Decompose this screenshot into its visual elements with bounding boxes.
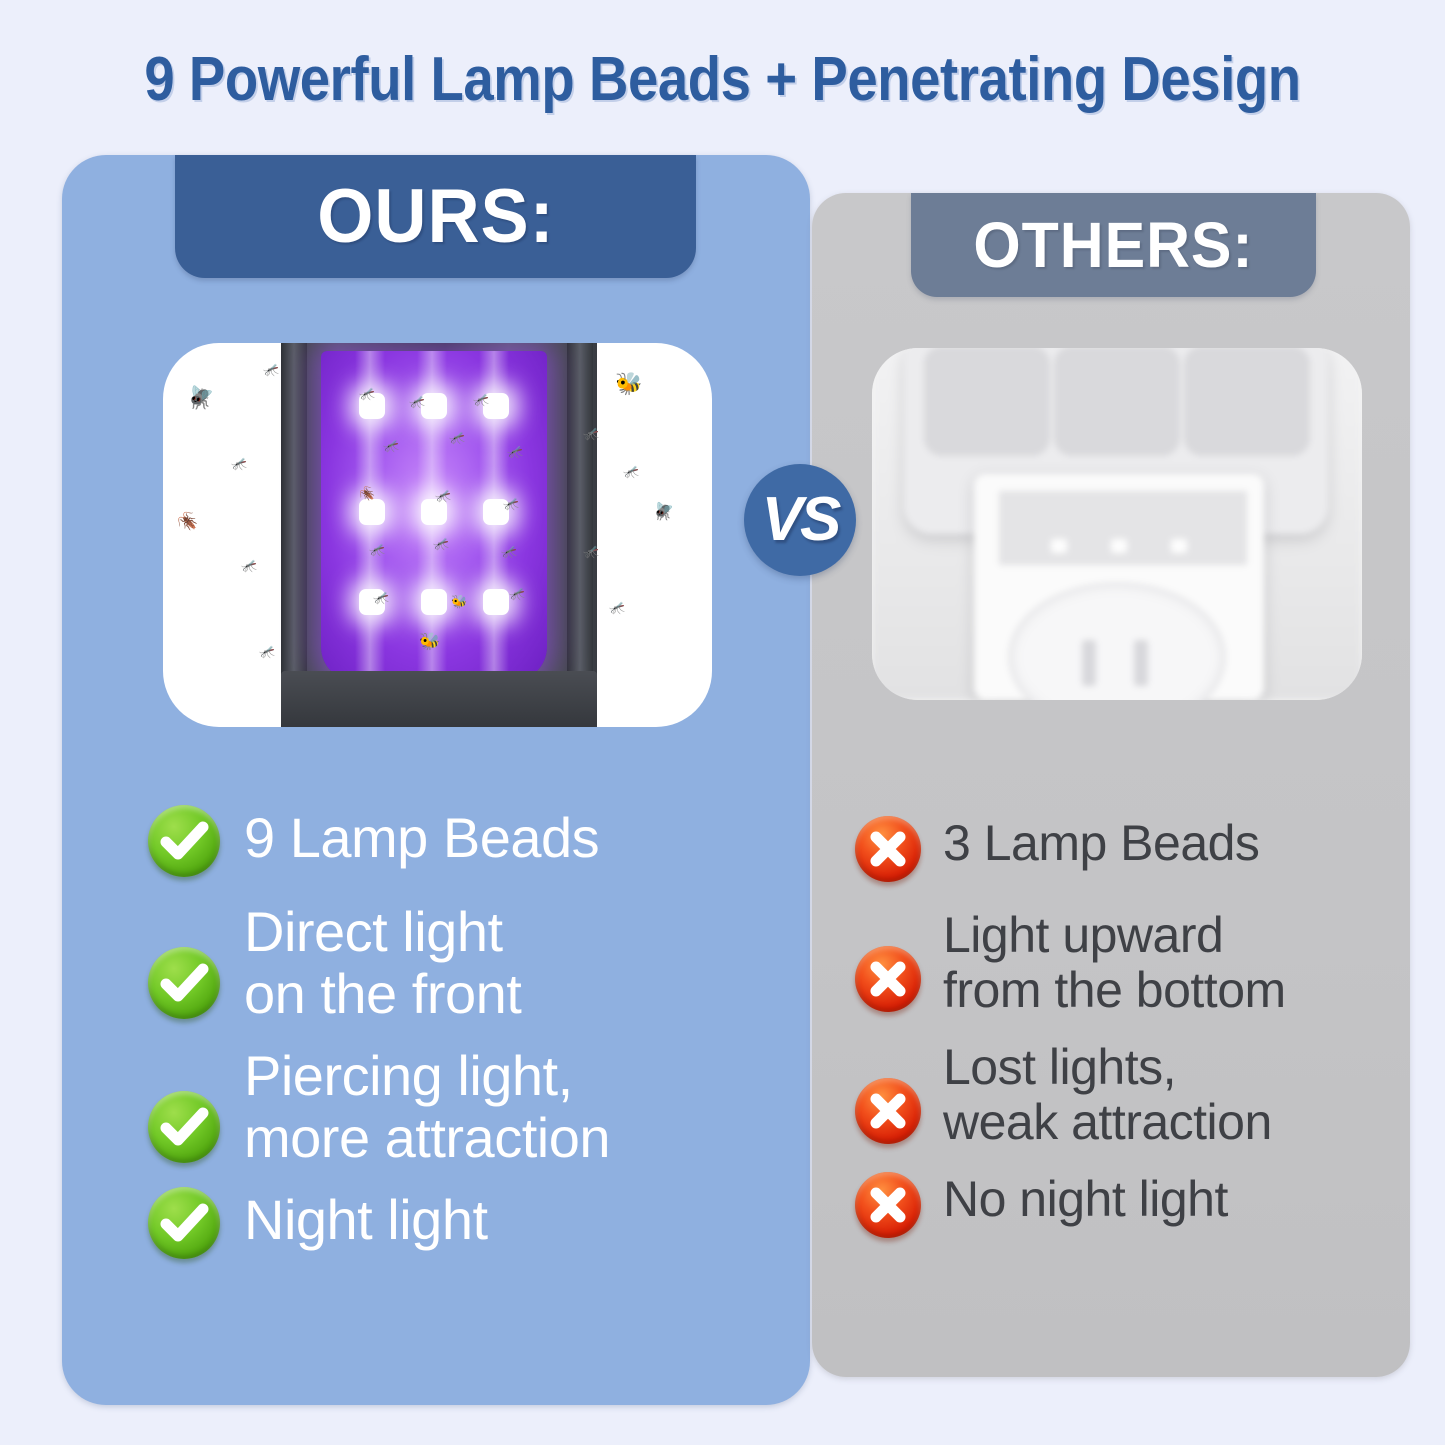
competitor-body <box>974 474 1264 700</box>
insect: 🦟 <box>609 597 625 619</box>
competitor-panel-cell <box>924 348 1050 456</box>
insect: 🦟 <box>409 391 425 413</box>
insect: 🐝 <box>615 373 642 395</box>
lamp-bead <box>483 589 509 615</box>
insect: 🦟 <box>241 555 257 577</box>
insect: 🦟 <box>263 359 279 381</box>
insect: 🦟 <box>507 441 523 463</box>
competitor-device <box>872 348 1362 700</box>
feature-row: Light upward from the bottom <box>855 904 1400 1018</box>
insect: 🦟 <box>583 541 599 563</box>
red-cross-icon <box>855 1078 921 1144</box>
insect: 🦟 <box>503 493 519 515</box>
competitor-prong <box>1134 640 1148 686</box>
competitor-lamp-bead <box>1111 539 1127 553</box>
insect: 🪰 <box>653 501 674 523</box>
insect: 🦟 <box>433 533 449 555</box>
insect: 🦟 <box>359 383 375 405</box>
insect: 🦟 <box>435 485 451 507</box>
feature-line: Piercing light, <box>244 1045 610 1107</box>
insect: 🦟 <box>583 423 599 445</box>
feature-label: Night light <box>244 1187 488 1251</box>
insect: 🦟 <box>509 583 525 605</box>
insect: 🦟 <box>373 587 389 609</box>
insect: 🐝 <box>451 591 467 613</box>
green-check-icon <box>148 947 220 1019</box>
feature-line: Direct light <box>244 901 521 963</box>
feature-line: from the bottom <box>943 963 1286 1018</box>
green-check-icon <box>148 1187 220 1259</box>
feature-row: No night light <box>855 1168 1400 1238</box>
feature-line: Night light <box>244 1189 488 1251</box>
insect: 🦟 <box>449 427 465 449</box>
vs-label: VS <box>762 489 839 551</box>
page-title: 9 Powerful Lamp Beads + Penetrating Desi… <box>87 42 1359 118</box>
insect: 🪳 <box>359 483 375 505</box>
red-cross-icon <box>855 816 921 882</box>
insect: 🪰 <box>187 387 214 409</box>
ours-product-photo: 🦟 🦟 🦟 🦟 🦟 🦟 🪳 🦟 🦟 🦟 🦟 🦟 🦟 🐝 🦟 🐝 🪰 🦟 🦟 🪳 … <box>163 343 712 727</box>
zapper-left-rail <box>281 343 307 727</box>
insect: 🦟 <box>501 541 517 563</box>
vs-badge: VS <box>744 464 856 576</box>
red-cross-icon <box>855 1172 921 1238</box>
ours-badge: OURS: <box>175 155 696 278</box>
zapper-base <box>281 671 597 727</box>
insect: 🪳 <box>177 511 198 533</box>
insect: 🐝 <box>419 631 440 653</box>
feature-row: Lost lights, weak attraction <box>855 1036 1400 1150</box>
competitor-panel-cell <box>1054 348 1180 456</box>
ours-badge-label: OURS: <box>317 177 554 257</box>
feature-label: Direct light on the front <box>244 899 521 1025</box>
others-feature-list: 3 Lamp Beads Light upward from the botto… <box>855 812 1400 1260</box>
feature-line: 3 Lamp Beads <box>943 816 1259 871</box>
feature-line: 9 Lamp Beads <box>244 807 599 869</box>
others-badge: OTHERS: <box>911 193 1316 297</box>
green-check-icon <box>148 1091 220 1163</box>
feature-label: Light upward from the bottom <box>943 904 1286 1018</box>
feature-line: Light upward <box>943 908 1286 963</box>
feature-line: No night light <box>943 1172 1228 1227</box>
competitor-light-slot <box>996 488 1250 568</box>
feature-row: Direct light on the front <box>148 899 788 1025</box>
insect: 🦟 <box>231 453 247 475</box>
feature-label: Lost lights, weak attraction <box>943 1036 1272 1150</box>
feature-row: 9 Lamp Beads <box>148 805 788 877</box>
feature-label: Piercing light, more attraction <box>244 1043 610 1169</box>
feature-line: on the front <box>244 963 521 1025</box>
others-product-photo <box>872 348 1362 700</box>
competitor-plug-face <box>1008 582 1226 700</box>
red-cross-icon <box>855 946 921 1012</box>
competitor-lamp-bead <box>1051 539 1067 553</box>
feature-line: Lost lights, <box>943 1040 1272 1095</box>
insect: 🦟 <box>259 641 275 663</box>
insect: 🦟 <box>623 461 639 483</box>
green-check-icon <box>148 805 220 877</box>
zapper-right-rail <box>567 343 593 727</box>
feature-line: more attraction <box>244 1107 610 1169</box>
feature-row: Piercing light, more attraction <box>148 1043 788 1169</box>
competitor-prong <box>1082 640 1096 686</box>
insect: 🦟 <box>369 539 385 561</box>
lamp-bead <box>421 589 447 615</box>
feature-label: 9 Lamp Beads <box>244 805 599 869</box>
feature-line: weak attraction <box>943 1095 1272 1150</box>
feature-row: 3 Lamp Beads <box>855 812 1400 882</box>
insect: 🦟 <box>473 389 489 411</box>
feature-label: No night light <box>943 1168 1228 1227</box>
others-badge-label: OTHERS: <box>973 211 1253 279</box>
competitor-lamp-bead <box>1171 539 1187 553</box>
feature-label: 3 Lamp Beads <box>943 812 1259 871</box>
insect: 🦟 <box>383 435 399 457</box>
ours-feature-list: 9 Lamp Beads Direct light on the front P… <box>148 805 788 1281</box>
competitor-panel-cell <box>1184 348 1310 456</box>
feature-row: Night light <box>148 1187 788 1259</box>
